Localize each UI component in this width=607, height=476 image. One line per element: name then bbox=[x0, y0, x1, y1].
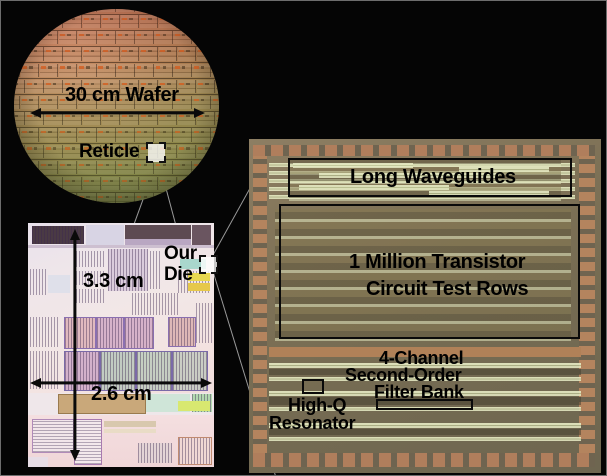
pad-ring-bottom bbox=[253, 453, 595, 467]
transistor-rows-label-line2: Circuit Test Rows bbox=[366, 279, 528, 300]
pad-ring-right bbox=[579, 145, 595, 467]
pad-ring-top bbox=[253, 145, 595, 156]
pad-ring-left bbox=[253, 145, 267, 467]
figure-canvas: 30 cm Wafer Reticle bbox=[0, 0, 607, 476]
die-height-label: 3.3 cm bbox=[83, 271, 143, 292]
resonator-label-line2: Resonator bbox=[269, 414, 355, 433]
resonator-box[interactable] bbox=[302, 379, 324, 394]
filter-bank-label-line3: Filter Bank bbox=[374, 383, 464, 402]
our-die-marker[interactable] bbox=[199, 255, 218, 274]
our-die-label-line2: Die bbox=[164, 265, 193, 285]
die-height-arrow bbox=[69, 229, 81, 461]
transistor-rows-label-line1: 1 Million Transistor bbox=[349, 252, 525, 273]
reticle-marker[interactable] bbox=[146, 142, 166, 163]
wafer-photo bbox=[14, 9, 219, 203]
long-waveguides-label: Long Waveguides bbox=[350, 167, 516, 188]
die-width-label: 2.6 cm bbox=[91, 384, 151, 405]
wafer-diameter-arrow bbox=[30, 107, 205, 118]
reticle-label: Reticle bbox=[79, 142, 139, 162]
our-die-label-line1: Our bbox=[164, 244, 197, 264]
wafer-diameter-label: 30 cm Wafer bbox=[65, 85, 179, 106]
wafer-vignette bbox=[14, 9, 219, 203]
